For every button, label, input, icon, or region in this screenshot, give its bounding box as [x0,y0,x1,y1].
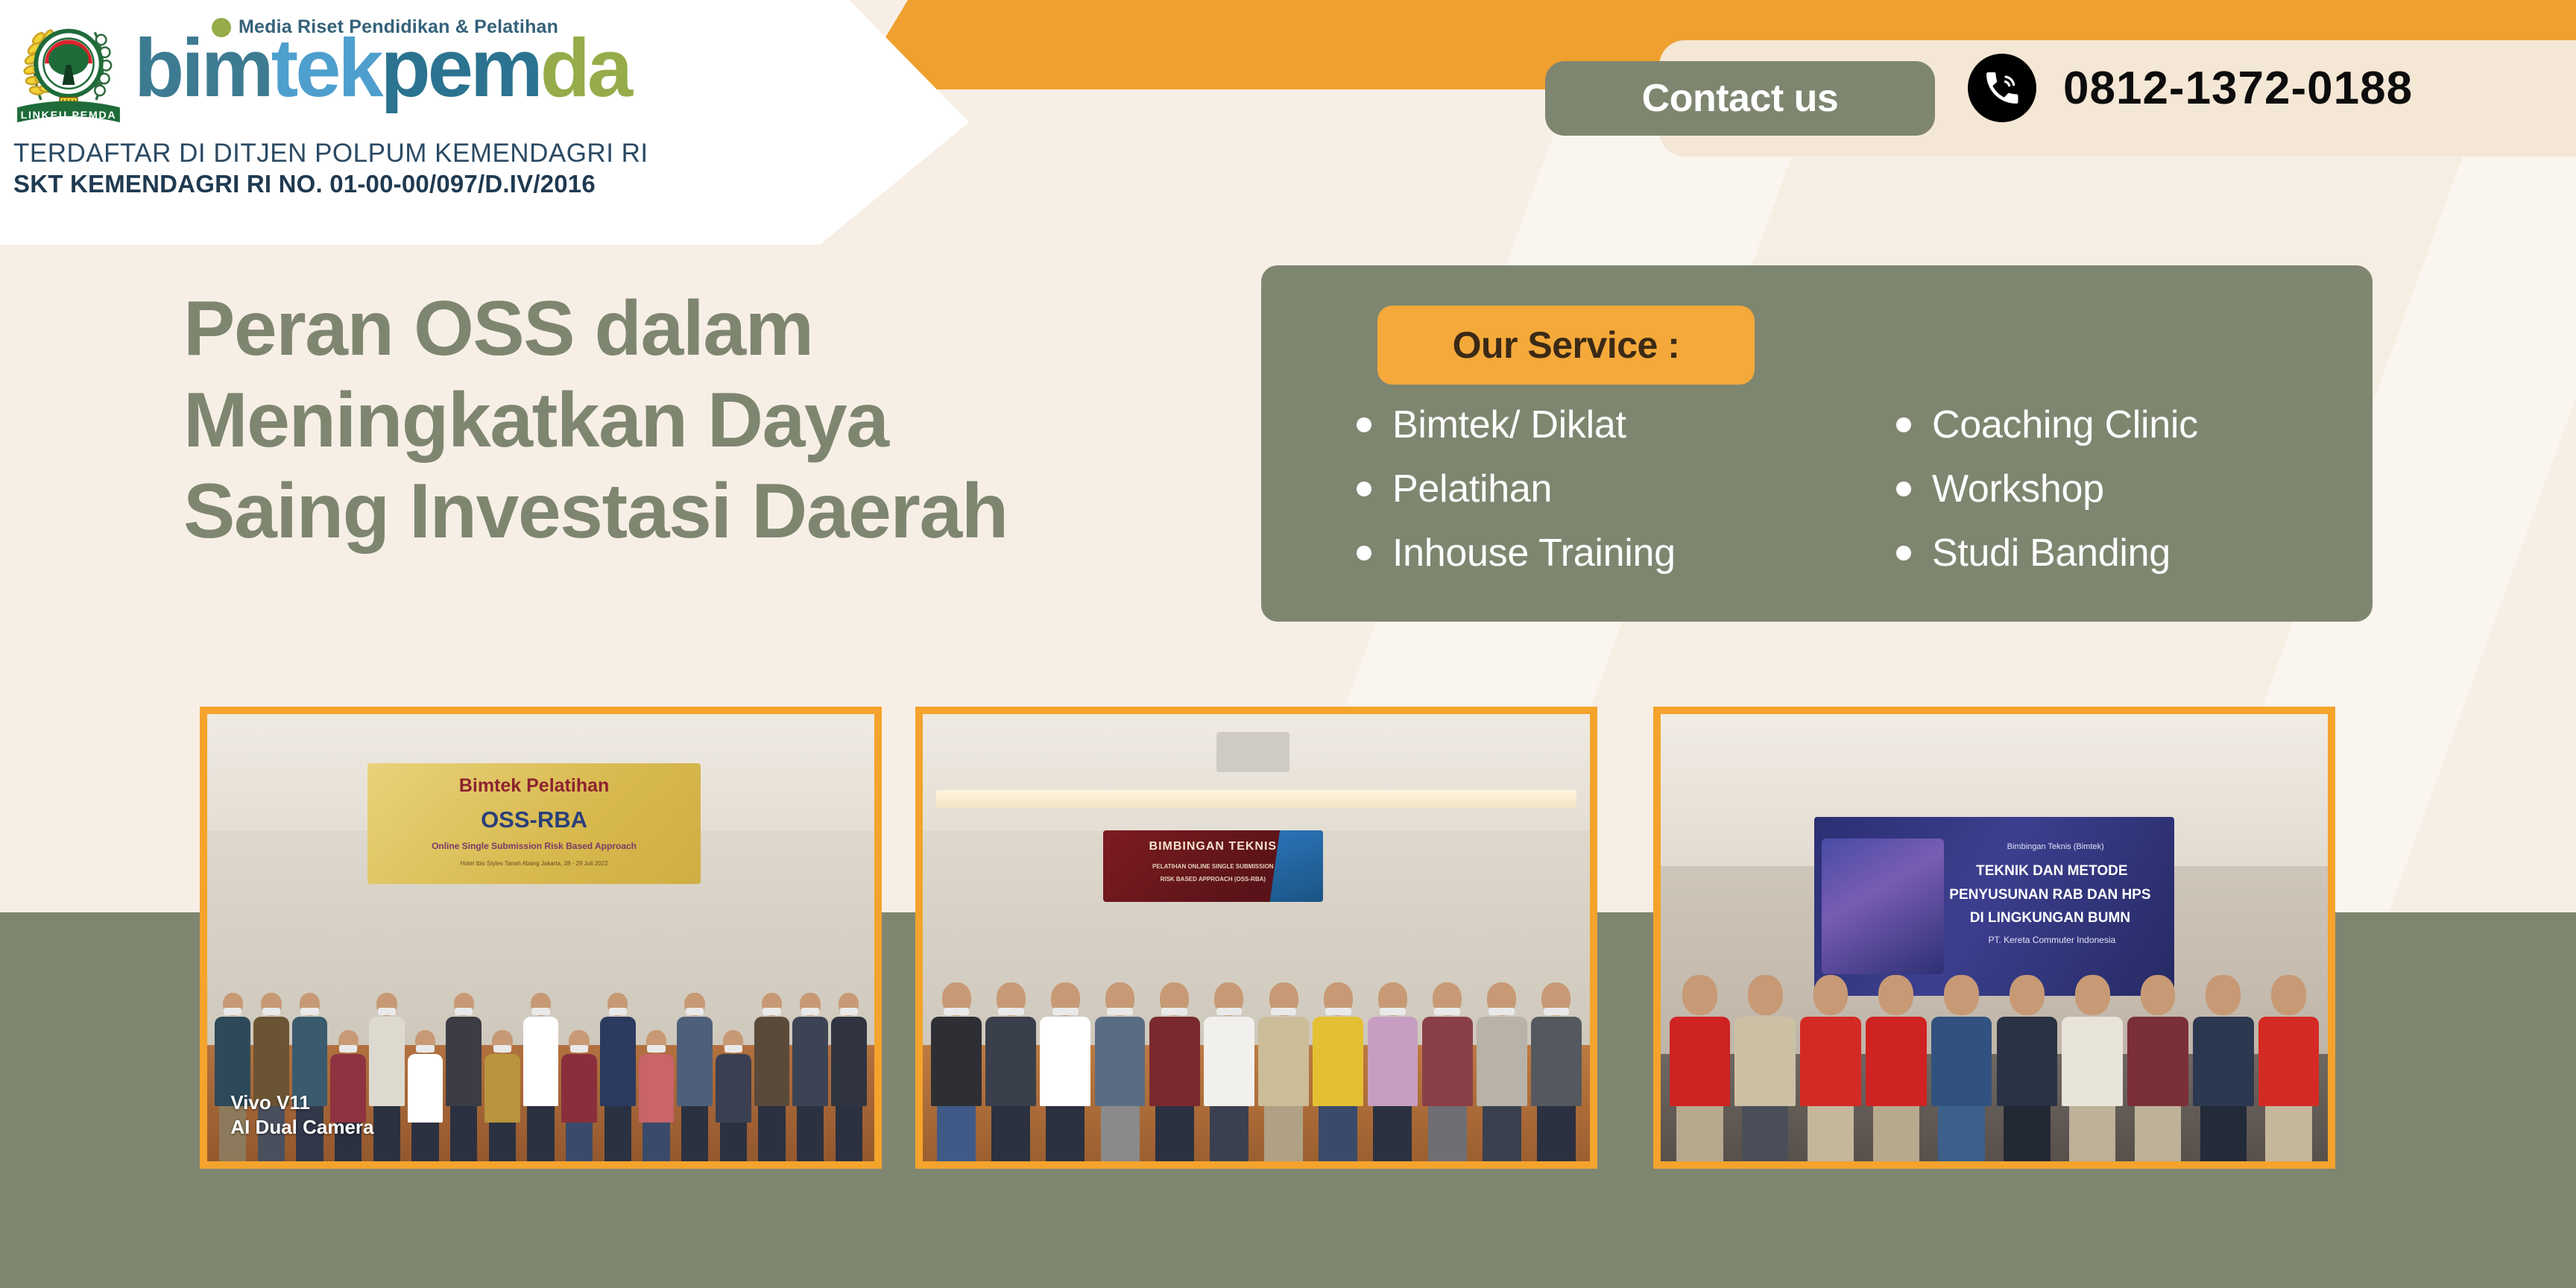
service-label: Bimtek/ Diklat [1392,402,1626,447]
wordmark-pem: pem [381,22,540,114]
service-label: Pelatihan [1392,467,1552,511]
service-label: Inhouse Training [1392,531,1676,575]
bullet-icon [1896,482,1911,496]
photo-1-watermark: Vivo V11 AI Dual Camera [230,1090,373,1139]
photo-2-projector [1216,732,1289,772]
event-photo-1: Bimtek Pelatihan OSS-RBA Online Single S… [200,707,882,1169]
phone-number: 0812-1372-0188 [2063,62,2413,115]
brand-wordmark: bimtekpemda [134,34,630,104]
service-item: Pelatihan [1357,467,1834,511]
poster-canvas: LINKEU PEMDA Media Riset Pendidikan & Pe… [0,0,2576,1288]
bullet-icon [1357,546,1371,561]
wordmark-da: da [540,22,630,114]
headline-line-2: Meningkatkan Daya [183,375,1249,467]
brand-wordmark-block: Media Riset Pendidikan & Pelatihan bimte… [134,6,630,104]
service-label: Studi Banding [1932,531,2171,575]
bullet-icon [1896,546,1911,561]
service-badge-label: Our Service : [1453,323,1680,367]
photo-2-banner-line3: RISK BASED APPROACH (OSS-RBA) [1103,876,1323,883]
service-item: Bimtek/ Diklat [1357,402,1834,447]
contact-us-button[interactable]: Contact us [1545,61,1935,136]
registration-line-1: TERDAFTAR DI DITJEN POLPUM KEMENDAGRI RI [13,139,648,168]
photo-1-banner-title: Bimtek Pelatihan [367,775,701,797]
page-title: Peran OSS dalam Meningkatkan Daya Saing … [183,283,1249,558]
photo-2-attendees [923,884,1590,1161]
service-list: Bimtek/ Diklat Pelatihan Inhouse Trainin… [1357,402,2355,575]
photo-1-banner-subtitle: OSS-RBA [367,806,701,833]
service-item: Workshop [1896,467,2343,511]
brand-logo-block: LINKEU PEMDA Media Riset Pendidikan & Pe… [6,6,630,131]
service-item: Inhouse Training [1357,531,1834,575]
photo-1-banner-line3: Online Single Submission Risk Based Appr… [367,841,701,851]
event-photo-3: Bimbingan Teknis (Bimtek) TEKNIK DAN MET… [1653,707,2335,1169]
event-photo-2: BIMBINGAN TEKNIS PELATIHAN ONLINE SINGLE… [915,707,1597,1169]
service-label: Coaching Clinic [1932,402,2198,447]
wordmark-tek: tek [271,22,381,114]
bullet-icon [1357,417,1371,432]
bullet-icon [1357,482,1371,496]
headline-line-3: Saing Investasi Daerah [183,466,1249,558]
wordmark-bim: bim [134,22,271,114]
photo-2-banner-line2: PELATIHAN ONLINE SINGLE SUBMISSION [1103,863,1323,870]
phone-block[interactable]: 0812-1372-0188 [1968,54,2413,122]
svg-text:LINKEU PEMDA: LINKEU PEMDA [21,110,117,121]
headline-line-1: Peran OSS dalam [183,283,1249,375]
service-column-left: Bimtek/ Diklat Pelatihan Inhouse Trainin… [1357,402,1834,575]
service-badge: Our Service : [1377,306,1755,385]
photo-1-watermark-line-1: Vivo V11 [230,1090,373,1115]
photo-3-banner-title-1: TEKNIK DAN METODE [1936,863,2167,880]
service-label: Workshop [1932,467,2104,511]
photo-1-banner: Bimtek Pelatihan OSS-RBA Online Single S… [367,763,701,884]
contact-us-label: Contact us [1642,76,1839,121]
linkeu-pemda-emblem-icon: LINKEU PEMDA [6,6,131,131]
photo-3-banner-pretitle: Bimbingan Teknis (Bimtek) [1951,842,2159,851]
bullet-icon [1896,417,1911,432]
photo-1-banner-line4: Hotel Ibis Styles Tanah Abang Jakarta, 2… [367,860,701,867]
service-item: Studi Banding [1896,531,2343,575]
registration-line-2: SKT KEMENDAGRI RI NO. 01-00-00/097/D.IV/… [13,170,596,198]
photo-2-banner-title: BIMBINGAN TEKNIS [1103,840,1323,853]
service-column-right: Coaching Clinic Workshop Studi Banding [1896,402,2343,575]
photo-1-watermark-line-2: AI Dual Camera [230,1115,373,1140]
phone-icon [1968,54,2036,122]
service-item: Coaching Clinic [1896,402,2343,447]
photo-3-attendees [1661,884,2328,1161]
photo-2-light-strip [936,790,1576,808]
